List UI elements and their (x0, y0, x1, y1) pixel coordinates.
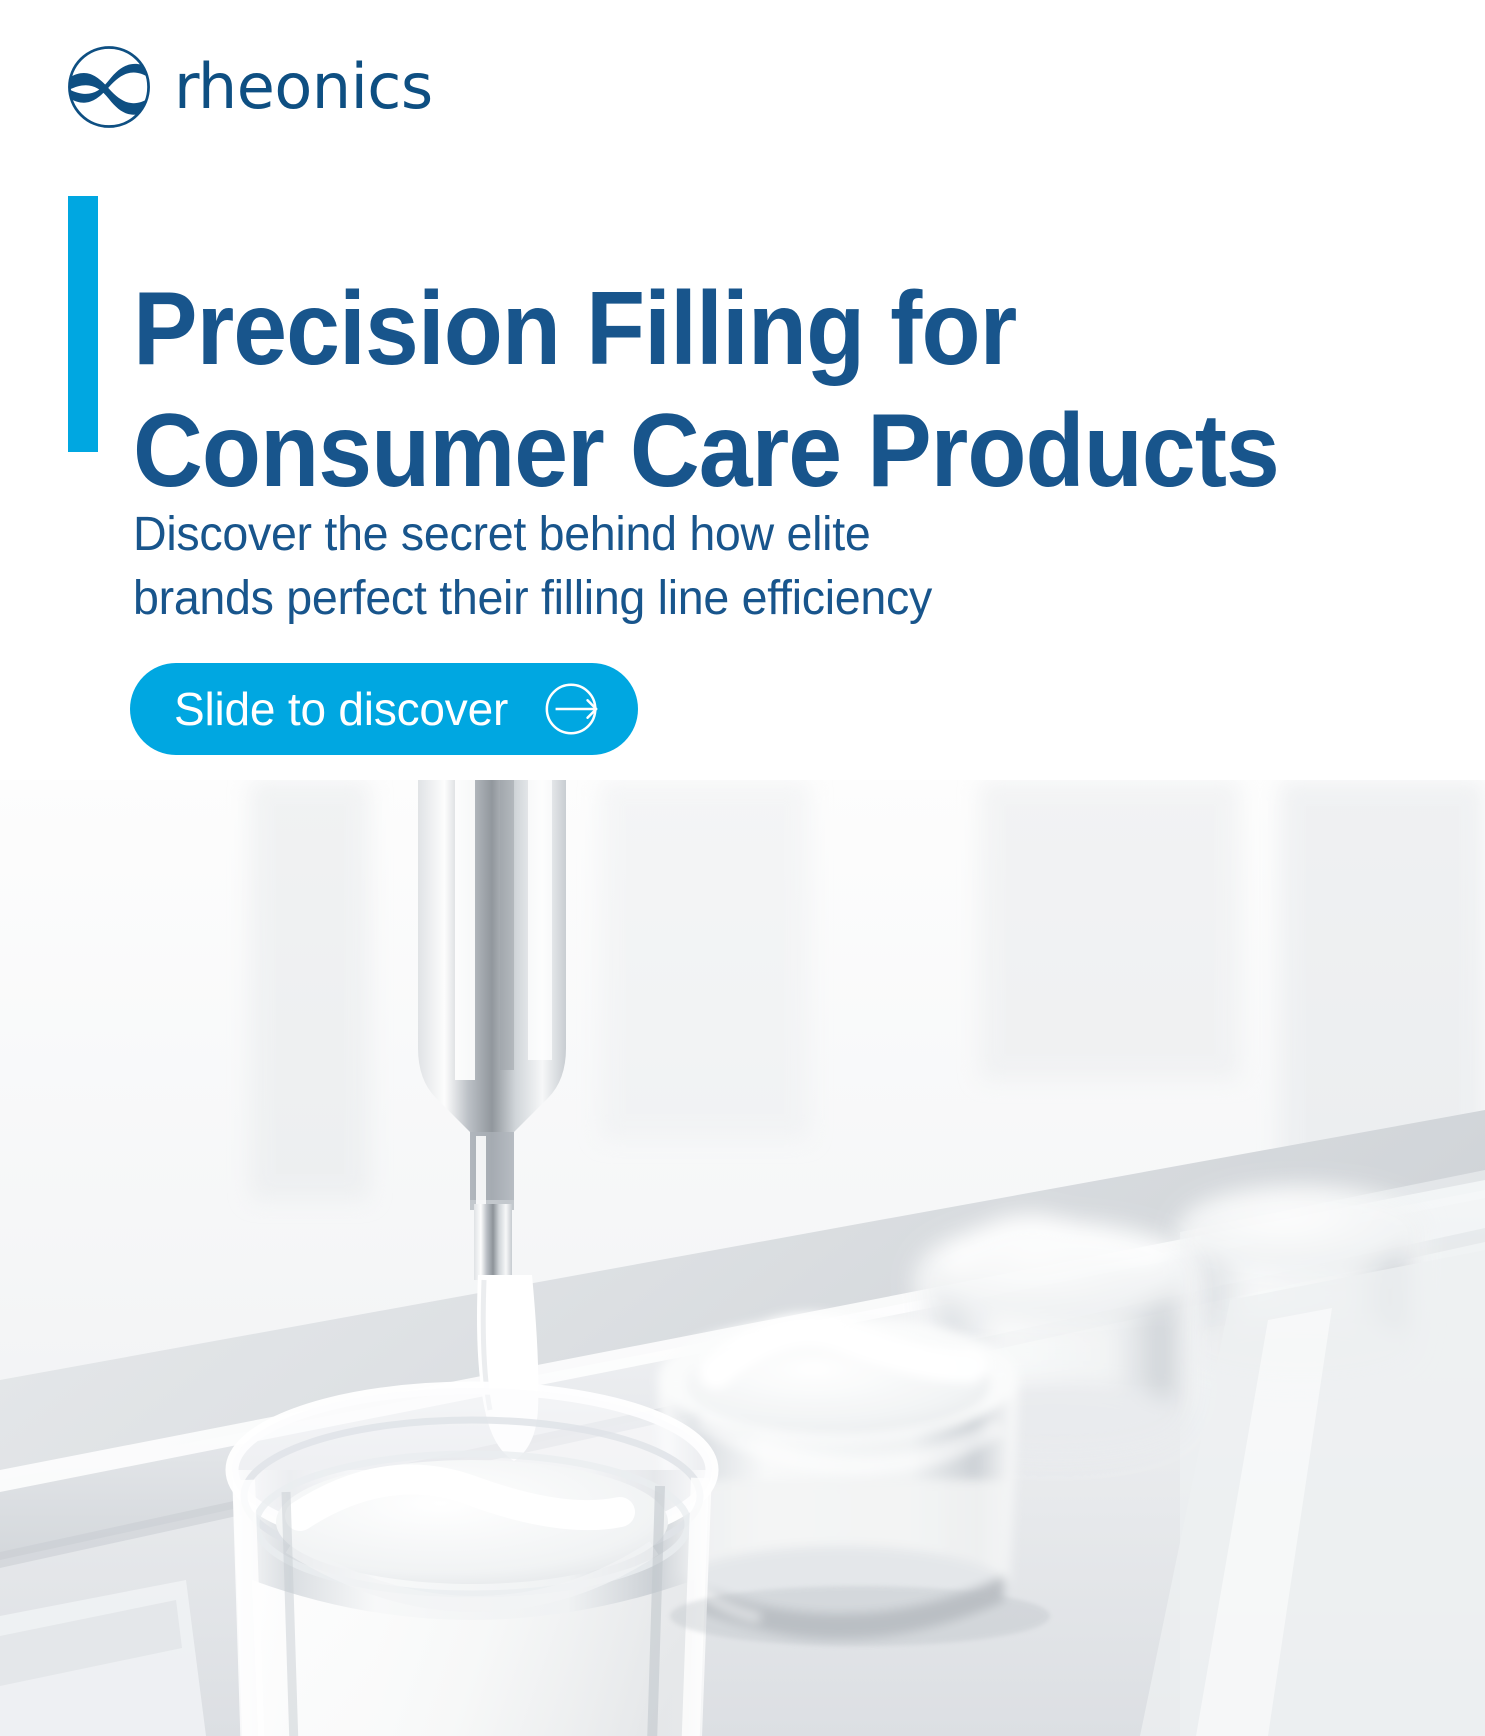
cosmetic-jar-filling-line-illustration (0, 780, 1485, 1736)
headline-line-2: Consumer Care Products (133, 390, 1230, 513)
rheonics-wave-circle-logo-icon (66, 44, 152, 130)
slide-to-discover-button[interactable]: Slide to discover (130, 663, 638, 755)
cta-label: Slide to discover (174, 686, 508, 732)
page-title: Precision Filling for Consumer Care Prod… (133, 268, 1230, 513)
subtitle-line-1: Discover the secret behind how elite (133, 503, 1152, 567)
brand-logo: rheonics (66, 44, 433, 130)
brand-wordmark: rheonics (174, 56, 433, 118)
headline-line-1: Precision Filling for (133, 268, 1230, 391)
arrow-right-circle-icon (542, 678, 604, 740)
accent-bar (68, 196, 98, 452)
page-subtitle: Discover the secret behind how elite bra… (133, 503, 1152, 631)
carousel-cover-slide: rheonics Precision Filling for Consumer … (0, 0, 1485, 1736)
subtitle-line-2: brands perfect their filling line effici… (133, 567, 1152, 631)
hero-photo (0, 780, 1485, 1736)
